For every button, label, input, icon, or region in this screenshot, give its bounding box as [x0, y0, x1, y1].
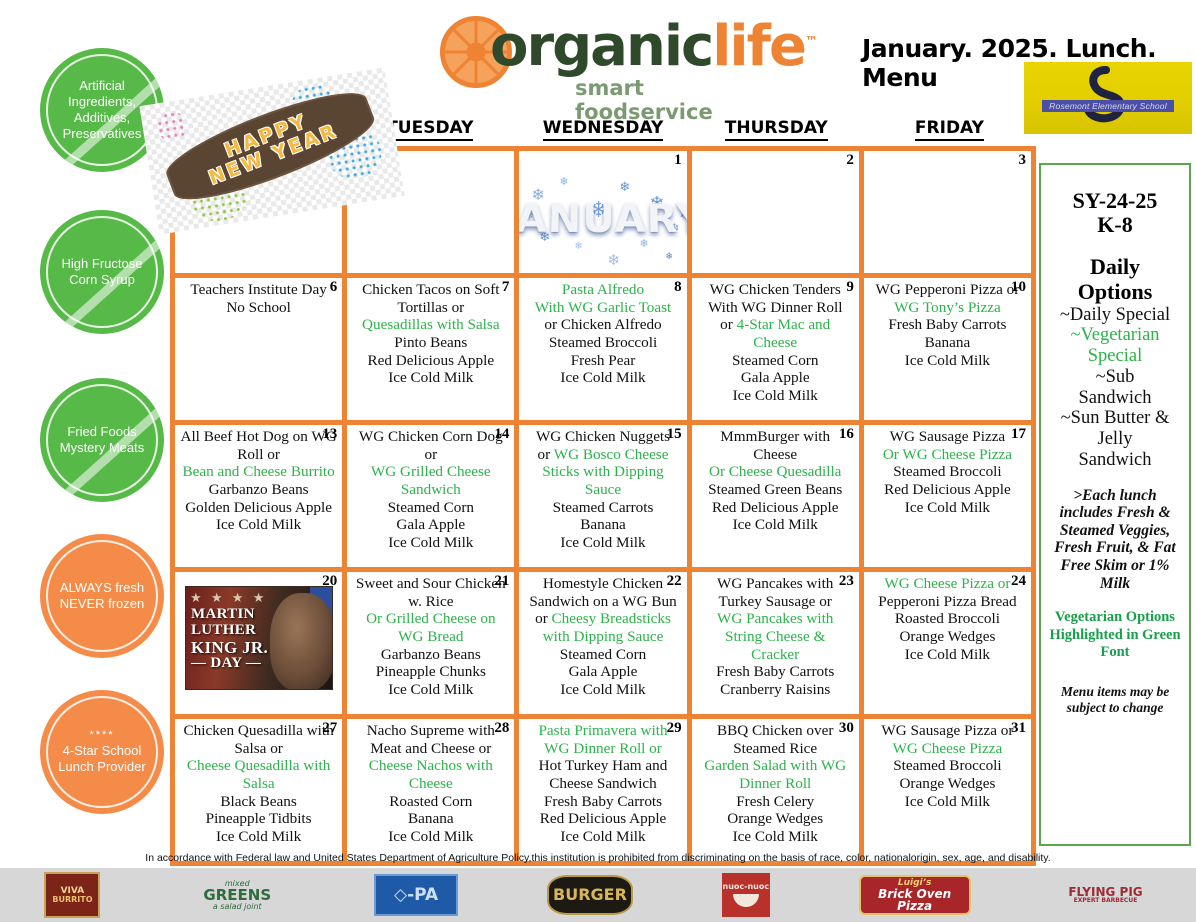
menu-item: Cheese: [696, 334, 855, 352]
menu-item: BBQ Chicken over: [696, 722, 855, 740]
menu-item: or WG Bosco Cheese: [523, 446, 682, 464]
menu-item: Fresh Baby Carrots: [696, 663, 855, 681]
menu-item: Ice Cold Milk: [868, 646, 1027, 664]
menu-item-list: WG Chicken Nuggetsor WG Bosco CheeseStic…: [523, 426, 682, 551]
brand-flying-pig: FLYING PIG EXPERT BARBECUE: [1059, 875, 1151, 915]
menu-item-list: Chicken Quesadilla withSalsa orCheese Qu…: [179, 720, 338, 845]
menu-item-list: WG Sausage Pizza orWG Cheese PizzaSteame…: [868, 720, 1027, 810]
brand-line3: a salad joint: [213, 903, 262, 911]
day-number: 31: [1011, 720, 1026, 737]
badge-text: 4-Star School Lunch Provider: [58, 743, 145, 774]
badge-label: High Fructose Corn Syrup: [40, 256, 164, 289]
menu-item: Quesadillas with Salsa: [351, 316, 510, 334]
menu-item: Red Delicious Apple: [351, 352, 510, 370]
menu-page: organiclife™ smart foodservice January. …: [0, 0, 1196, 922]
menu-item: Banana: [523, 516, 682, 534]
day-number: 6: [330, 279, 338, 296]
calendar-grid: 1❄❄❄❄❄❄❄❄❄❄❄❄❄JANUARY236Teachers Institu…: [170, 146, 1036, 866]
menu-item: Ice Cold Milk: [179, 516, 338, 534]
menu-item-list: Homestyle ChickenSandwich on a WG Bunor …: [523, 573, 682, 698]
menu-item: Or WG Cheese Pizza: [868, 446, 1027, 464]
menu-item: Black Beans: [179, 793, 338, 811]
snowflake-icon: ❄: [665, 251, 673, 262]
menu-item-list: WG Sausage PizzaOr WG Cheese PizzaSteame…: [868, 426, 1027, 516]
bowl-icon: [733, 894, 759, 907]
menu-item-vegetarian: WG Bosco Cheese: [554, 446, 669, 463]
menu-item: All Beef Hot Dog on WG: [179, 428, 338, 446]
brand-line1: ◇-PA: [394, 887, 438, 904]
menu-item: WG Chicken Corn Dog: [351, 428, 510, 446]
calendar-day-cell[interactable]: 30BBQ Chicken overSteamed RiceGarden Sal…: [692, 719, 864, 861]
menu-item: Hot Turkey Ham and: [523, 757, 682, 775]
brand-burger: BURGER: [547, 875, 633, 915]
menu-item: Cheese: [351, 775, 510, 793]
calendar-day-cell[interactable]: 7Chicken Tacos on SoftTortillas orQuesad…: [347, 278, 519, 420]
calendar-day-cell[interactable]: 16MmmBurger withCheeseOr Cheese Quesadil…: [692, 425, 864, 567]
trademark-symbol: ™: [805, 34, 816, 49]
menu-item: Cheese: [696, 446, 855, 464]
menu-item-list: Teachers Institute DayNo School: [179, 279, 338, 316]
menu-item: Pinto Beans: [351, 334, 510, 352]
menu-item: WG Dinner Roll or: [523, 740, 682, 758]
calendar-day-cell[interactable]: 24WG Cheese Pizza orPepperoni Pizza Brea…: [864, 572, 1036, 714]
menu-item: Ice Cold Milk: [351, 534, 510, 552]
menu-item-list: WG Pepperoni Pizza orWG Tony’s PizzaFres…: [868, 279, 1027, 369]
menu-item-list: WG Chicken Corn DogorWG Grilled CheeseSa…: [351, 426, 510, 551]
day-number: 24: [1011, 573, 1026, 590]
brand-opa: ◇-PA: [374, 874, 458, 916]
daily-heading-line2: Options: [1047, 280, 1183, 304]
snowflake-icon: ❄: [574, 241, 582, 252]
menu-item: Pineapple Chunks: [351, 663, 510, 681]
menu-item: Steamed Corn: [523, 646, 682, 664]
dow-thursday: THURSDAY: [690, 118, 863, 146]
menu-item: Cheese Nachos with: [351, 757, 510, 775]
menu-item-prefix: or: [535, 610, 551, 627]
calendar-day-cell[interactable]: 8Pasta AlfredoWith WG Garlic Toastor Chi…: [519, 278, 691, 420]
brand-organic: organic: [490, 14, 712, 79]
menu-item: WG Pepperoni Pizza or: [868, 281, 1027, 299]
calendar-day-cell[interactable]: 29Pasta Primavera withWG Dinner Roll orH…: [519, 719, 691, 861]
daily-option-item: Jelly: [1047, 429, 1183, 450]
day-number: 23: [839, 573, 854, 590]
menu-item-vegetarian: Cheesy Breadsticks: [552, 610, 671, 627]
menu-item: Salsa: [179, 775, 338, 793]
menu-item: w. Rice: [351, 593, 510, 611]
day-number: 9: [846, 279, 854, 296]
calendar-day-cell[interactable]: 23WG Pancakes withTurkey Sausage orWG Pa…: [692, 572, 864, 714]
calendar-day-cell[interactable]: 3: [864, 151, 1036, 273]
vegetarian-legend-note: Vegetarian Options Highlighted in Green …: [1047, 609, 1183, 661]
menu-item: or: [351, 446, 510, 464]
menu-item: Fresh Celery: [696, 793, 855, 811]
mlk-line1: MARTIN: [191, 607, 287, 623]
brand-line1: nuoc-nuoc: [723, 883, 770, 891]
menu-item: Roasted Broccoli: [868, 610, 1027, 628]
menu-item: Or Grilled Cheese on: [351, 610, 510, 628]
dow-label: FRIDAY: [915, 118, 984, 141]
day-number: 16: [839, 426, 854, 443]
menu-item: Steamed Green Beans: [696, 481, 855, 499]
day-number: 30: [839, 720, 854, 737]
menu-item: String Cheese &: [696, 628, 855, 646]
menu-item: Steamed Corn: [351, 499, 510, 517]
menu-item-vegetarian: 4-Star Mac and: [737, 316, 831, 333]
brand-line2: Brick Oven Pizza: [861, 888, 969, 912]
day-number: 13: [322, 426, 337, 443]
daily-option-item: ~Daily Special: [1047, 305, 1183, 326]
new-year-text: HAPPY NEW YEAR: [159, 78, 382, 214]
menu-item: Steamed Carrots: [523, 499, 682, 517]
mlk-line2: LUTHER: [191, 623, 287, 639]
calendar-week-row: 20★ ★ ★ ★MARTINLUTHERKING JR.— DAY —21Sw…: [170, 572, 1036, 719]
menu-item: Ice Cold Milk: [523, 828, 682, 846]
menu-item: Salsa or: [179, 740, 338, 758]
january-word: JANUARY: [519, 196, 686, 242]
menu-item: Pasta Primavera with: [523, 722, 682, 740]
menu-item: Ice Cold Milk: [696, 516, 855, 534]
menu-item: Bean and Cheese Burrito: [179, 463, 338, 481]
menu-item: Ice Cold Milk: [351, 369, 510, 387]
menu-item: Ice Cold Milk: [868, 793, 1027, 811]
menu-item: Gala Apple: [523, 663, 682, 681]
daily-option-item: ~Sun Butter &: [1047, 408, 1183, 429]
menu-item: Ice Cold Milk: [351, 681, 510, 699]
badge-label: **** 4-Star School Lunch Provider: [40, 729, 164, 775]
brand-line2: BURRITO: [52, 896, 92, 904]
day-number: 27: [322, 720, 337, 737]
calendar-day-cell[interactable]: 1❄❄❄❄❄❄❄❄❄❄❄❄❄JANUARY: [519, 151, 691, 273]
menu-item: Banana: [868, 334, 1027, 352]
menu-item: Meat and Cheese or: [351, 740, 510, 758]
menu-item: Dinner Roll: [696, 775, 855, 793]
menu-item: Red Delicious Apple: [868, 481, 1027, 499]
brand-tagline: smart foodservice: [575, 76, 770, 124]
menu-item: WG Sausage Pizza or: [868, 722, 1027, 740]
day-number: 15: [667, 426, 682, 443]
brand-wordmark: organiclife™: [490, 14, 816, 79]
subject-to-change-note: Menu items may be subject to change: [1047, 684, 1183, 716]
mlk-line3: KING JR.: [191, 639, 287, 657]
menu-item: Orange Wedges: [868, 628, 1027, 646]
menu-item: or Chicken Alfredo: [523, 316, 682, 334]
badge-label: Fried Foods Mystery Meats: [40, 424, 164, 457]
grade-range: K-8: [1047, 213, 1183, 237]
cobra-icon: [1076, 66, 1142, 130]
snowflake-icon: ❄: [559, 175, 568, 188]
menu-item: WG Pancakes with: [696, 575, 855, 593]
day-number: 28: [494, 720, 509, 737]
calendar-day-cell[interactable]: 17WG Sausage PizzaOr WG Cheese PizzaStea…: [864, 425, 1036, 567]
brand-life: life: [712, 14, 805, 79]
menu-item: Orange Wedges: [696, 810, 855, 828]
menu-item: Teachers Institute Day: [179, 281, 338, 299]
menu-item: Ice Cold Milk: [523, 369, 682, 387]
day-number: 21: [494, 573, 509, 590]
menu-item: Cheese Sandwich: [523, 775, 682, 793]
menu-item: WG Tony’s Pizza: [868, 299, 1027, 317]
menu-item: Ice Cold Milk: [179, 828, 338, 846]
menu-item: Garbanzo Beans: [179, 481, 338, 499]
menu-item-list: Chicken Tacos on SoftTortillas orQuesadi…: [351, 279, 510, 387]
badge-label: ALWAYS fresh NEVER frozen: [40, 580, 164, 613]
school-year-heading: SY-24-25 K-8: [1047, 189, 1183, 237]
menu-item-list: MmmBurger withCheeseOr Cheese Quesadilla…: [696, 426, 855, 534]
menu-item: Steamed Broccoli: [868, 463, 1027, 481]
menu-item: Ice Cold Milk: [523, 534, 682, 552]
school-year: SY-24-25: [1047, 189, 1183, 213]
menu-item: Roasted Corn: [351, 793, 510, 811]
brand-mixed-greens: mixed GREENS a salad joint: [189, 873, 285, 917]
menu-item: Orange Wedges: [868, 775, 1027, 793]
menu-item: Fresh Baby Carrots: [868, 316, 1027, 334]
menu-item-list: WG Chicken TendersWith WG Dinner Rollor …: [696, 279, 855, 404]
calendar-day-cell[interactable]: 20★ ★ ★ ★MARTINLUTHERKING JR.— DAY —: [170, 572, 347, 714]
menu-item: Pineapple Tidbits: [179, 810, 338, 828]
badge-4-star-provider: **** 4-Star School Lunch Provider: [40, 690, 164, 814]
calendar-week-row: 6Teachers Institute DayNo School7Chicken…: [170, 278, 1036, 425]
menu-item: WG Sausage Pizza: [868, 428, 1027, 446]
daily-option-item: ~Vegetarian: [1047, 325, 1183, 346]
calendar-day-cell[interactable]: 15WG Chicken Nuggetsor WG Bosco CheeseSt…: [519, 425, 691, 567]
calendar-day-cell[interactable]: 22Homestyle ChickenSandwich on a WG Buno…: [519, 572, 691, 714]
menu-item: Chicken Tacos on Soft: [351, 281, 510, 299]
brand-line2: EXPERT BARBECUE: [1074, 898, 1138, 904]
menu-item-list: Pasta AlfredoWith WG Garlic Toastor Chic…: [523, 279, 682, 387]
menu-item: Tortillas or: [351, 299, 510, 317]
calendar-day-cell[interactable]: 2: [692, 151, 864, 273]
dow-label: THURSDAY: [725, 118, 828, 141]
menu-item: Ice Cold Milk: [696, 387, 855, 405]
menu-item-list: WG Pancakes withTurkey Sausage orWG Panc…: [696, 573, 855, 698]
menu-item: No School: [179, 299, 338, 317]
menu-item: WG Chicken Tenders: [696, 281, 855, 299]
calendar-day-cell[interactable]: 27Chicken Quesadilla withSalsa orCheese …: [170, 719, 347, 861]
dow-friday: FRIDAY: [863, 118, 1036, 146]
menu-item: Red Delicious Apple: [523, 810, 682, 828]
daily-heading-line1: Daily: [1047, 255, 1183, 279]
calendar-week-row: 13All Beef Hot Dog on WGRoll orBean and …: [170, 425, 1036, 572]
menu-item: Steamed Broccoli: [523, 334, 682, 352]
brand-logo-strip: VIVA BURRITO mixed GREENS a salad joint …: [0, 870, 1196, 920]
daily-options-list: ~Daily Special~VegetarianSpecial~SubSand…: [1047, 305, 1183, 471]
menu-item: WG Cheese Pizza: [868, 740, 1027, 758]
day-number: 17: [1011, 426, 1026, 443]
menu-item: Nacho Supreme with: [351, 722, 510, 740]
mlk-line4: — DAY —: [191, 656, 287, 672]
menu-item: Chicken Quesadilla with: [179, 722, 338, 740]
menu-item: Homestyle Chicken: [523, 575, 682, 593]
dow-label: WEDNESDAY: [543, 118, 664, 141]
day-number: 2: [846, 152, 854, 169]
star-rating-icon: ****: [50, 729, 154, 743]
day-number: 29: [667, 720, 682, 737]
menu-item: Ice Cold Milk: [868, 352, 1027, 370]
menu-item: Roll or: [179, 446, 338, 464]
school-logo: Rosemont Elementary School: [1024, 62, 1192, 134]
menu-item: Cheese Quesadilla with: [179, 757, 338, 775]
menu-item: Sticks with Dipping: [523, 463, 682, 481]
calendar: MONDAY TUESDAY WEDNESDAY THURSDAY FRIDAY…: [170, 118, 1036, 866]
badge-no-high-fructose-corn-syrup: High Fructose Corn Syrup: [40, 210, 164, 334]
menu-item: Cracker: [696, 646, 855, 664]
menu-item: Gala Apple: [696, 369, 855, 387]
menu-item: Garden Salad with WG: [696, 757, 855, 775]
menu-item: WG Chicken Nuggets: [523, 428, 682, 446]
january-banner-art: ❄❄❄❄❄❄❄❄❄❄❄❄❄JANUARY: [519, 167, 686, 271]
day-number: 10: [1011, 279, 1026, 296]
menu-item: MmmBurger with: [696, 428, 855, 446]
badge-no-fried-foods: Fried Foods Mystery Meats: [40, 378, 164, 502]
day-number: 14: [494, 426, 509, 443]
menu-item: WG Cheese Pizza or: [868, 575, 1027, 593]
menu-item: Pasta Alfredo: [523, 281, 682, 299]
menu-item: With WG Garlic Toast: [523, 299, 682, 317]
menu-item: Garbanzo Beans: [351, 646, 510, 664]
menu-item: or 4-Star Mac and: [696, 316, 855, 334]
menu-item: WG Pancakes with: [696, 610, 855, 628]
day-number: 8: [674, 279, 682, 296]
menu-item-list: Sweet and Sour Chickenw. RiceOr Grilled …: [351, 573, 510, 698]
menu-item-prefix: or: [720, 316, 736, 333]
menu-item-list: Nacho Supreme withMeat and Cheese orChee…: [351, 720, 510, 845]
menu-item: Sandwich on a WG Bun: [523, 593, 682, 611]
menu-item-list: All Beef Hot Dog on WGRoll orBean and Ch…: [179, 426, 338, 534]
menu-item: Steamed Broccoli: [868, 757, 1027, 775]
menu-item-list: WG Cheese Pizza orPepperoni Pizza BreadR…: [868, 573, 1027, 663]
menu-item: Pepperoni Pizza Bread: [868, 593, 1027, 611]
menu-item: Turkey Sausage or: [696, 593, 855, 611]
dow-wednesday: WEDNESDAY: [516, 118, 689, 146]
dow-label: TUESDAY: [386, 118, 473, 141]
brand-nuoc-nuoc: nuoc-nuoc: [722, 873, 770, 917]
calendar-day-cell[interactable]: 13All Beef Hot Dog on WGRoll orBean and …: [170, 425, 347, 567]
brand-luigis-brick-oven-pizza: Luigi’s Brick Oven Pizza: [859, 875, 971, 915]
badge-always-fresh: ALWAYS fresh NEVER frozen: [40, 534, 164, 658]
ribbon-shape: HAPPY NEW YEAR: [159, 78, 382, 214]
daily-option-item: ~Sub: [1047, 367, 1183, 388]
menu-item-prefix: or: [538, 446, 554, 463]
day-number: 3: [1019, 152, 1027, 169]
menu-item: Ice Cold Milk: [868, 499, 1027, 517]
menu-item-list: BBQ Chicken overSteamed RiceGarden Salad…: [696, 720, 855, 845]
snowflake-icon: ❄: [607, 251, 620, 270]
calendar-day-cell[interactable]: 10WG Pepperoni Pizza orWG Tony’s PizzaFr…: [864, 278, 1036, 420]
calendar-day-cell[interactable]: 28Nacho Supreme withMeat and Cheese orCh…: [347, 719, 519, 861]
calendar-day-cell[interactable]: 9WG Chicken TendersWith WG Dinner Rollor…: [692, 278, 864, 420]
usda-nondiscrimination-statement: In accordance with Federal law and Unite…: [0, 852, 1196, 864]
menu-item: Sandwich: [351, 481, 510, 499]
mlk-day-art: ★ ★ ★ ★MARTINLUTHERKING JR.— DAY —: [185, 586, 333, 690]
menu-item: Fresh Baby Carrots: [523, 793, 682, 811]
snowflake-icon: ❄: [619, 179, 630, 195]
menu-item: Sauce: [523, 481, 682, 499]
menu-item: With WG Dinner Roll: [696, 299, 855, 317]
menu-item: Fresh Pear: [523, 352, 682, 370]
calendar-day-cell[interactable]: 21Sweet and Sour Chickenw. RiceOr Grille…: [347, 572, 519, 714]
menu-item: or Cheesy Breadsticks: [523, 610, 682, 628]
menu-item: Or Cheese Quesadilla: [696, 463, 855, 481]
menu-item: WG Grilled Cheese: [351, 463, 510, 481]
menu-item: Steamed Rice: [696, 740, 855, 758]
menu-item: Steamed Corn: [696, 352, 855, 370]
day-number: 22: [667, 573, 682, 590]
includes-note: >Each lunch includes Fresh & Steamed Veg…: [1047, 487, 1183, 593]
brand-line1: BURGER: [553, 887, 627, 903]
menu-item: Ice Cold Milk: [523, 681, 682, 699]
menu-item: Ice Cold Milk: [351, 828, 510, 846]
menu-item: Cranberry Raisins: [696, 681, 855, 699]
organiclife-logo: organiclife™ smart foodservice: [440, 12, 770, 104]
calendar-day-cell[interactable]: 6Teachers Institute DayNo School: [170, 278, 347, 420]
daily-options-heading: Daily Options: [1047, 255, 1183, 303]
brand-line2: GREENS: [203, 888, 271, 903]
mlk-day-label: MARTINLUTHERKING JR.— DAY —: [191, 607, 287, 672]
menu-item-list: Pasta Primavera withWG Dinner Roll orHot…: [523, 720, 682, 845]
daily-option-item: Sandwich: [1047, 450, 1183, 471]
menu-item: WG Bread: [351, 628, 510, 646]
menu-item: Banana: [351, 810, 510, 828]
menu-item: Golden Delicious Apple: [179, 499, 338, 517]
daily-option-item: Sandwich: [1047, 388, 1183, 409]
menu-item: Gala Apple: [351, 516, 510, 534]
daily-option-item: Special: [1047, 346, 1183, 367]
day-number: 7: [502, 279, 510, 296]
brand-viva-burrito: VIVA BURRITO: [44, 872, 100, 918]
menu-item: Red Delicious Apple: [696, 499, 855, 517]
daily-options-panel: SY-24-25 K-8 Daily Options ~Daily Specia…: [1039, 163, 1191, 846]
calendar-day-cell[interactable]: 31WG Sausage Pizza orWG Cheese PizzaStea…: [864, 719, 1036, 861]
calendar-week-row: 27Chicken Quesadilla withSalsa orCheese …: [170, 719, 1036, 866]
school-name-label: Rosemont Elementary School: [1042, 100, 1174, 112]
menu-item: Ice Cold Milk: [696, 828, 855, 846]
calendar-day-cell[interactable]: 14WG Chicken Corn DogorWG Grilled Cheese…: [347, 425, 519, 567]
menu-item: Sweet and Sour Chicken: [351, 575, 510, 593]
menu-item: with Dipping Sauce: [523, 628, 682, 646]
